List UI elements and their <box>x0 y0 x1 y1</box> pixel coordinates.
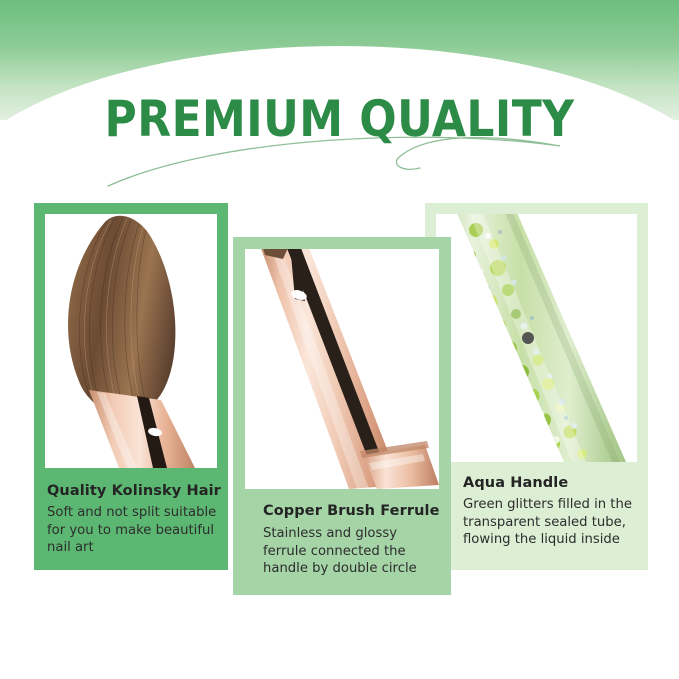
feature-card-hair: Quality Kolinsky Hair Soft and not split… <box>34 203 228 570</box>
infographic-page: PREMIUM QUALITY <box>0 0 679 679</box>
card-title-hair: Quality Kolinsky Hair <box>47 483 221 499</box>
card-title-aqua: Aqua Handle <box>463 475 568 491</box>
ferrule-image <box>245 249 439 489</box>
card-description-ferrule: Stainless and glossy ferrule connected t… <box>263 525 443 578</box>
glitter-handle-image <box>436 214 637 462</box>
feature-card-aqua: Aqua Handle Green glitters filled in the… <box>425 203 648 570</box>
page-title: PREMIUM QUALITY <box>0 92 679 146</box>
card-title-ferrule: Copper Brush Ferrule <box>263 503 440 519</box>
card-description-aqua: Green glitters filled in the transparent… <box>463 496 649 549</box>
feature-card-ferrule: Copper Brush Ferrule Stainless and gloss… <box>233 237 451 595</box>
headline-text: PREMIUM QUALITY <box>41 92 639 146</box>
card-description-hair: Soft and not split suitable for you to m… <box>47 504 223 557</box>
brush-head-image <box>45 214 217 468</box>
